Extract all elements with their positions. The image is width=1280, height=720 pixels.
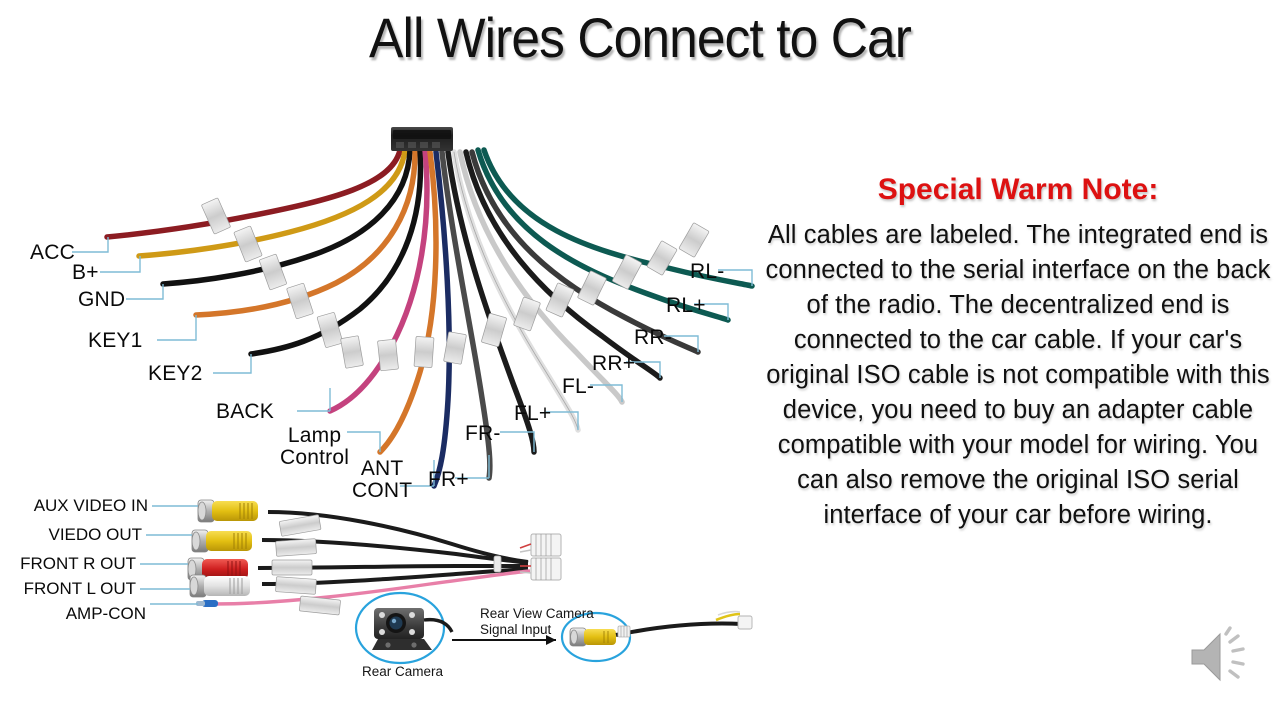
- rca-jack-front-l-out: [190, 575, 250, 597]
- speaker-audio-icon[interactable]: [1186, 626, 1260, 688]
- wire-label-key2: KEY2: [148, 362, 203, 385]
- page-title: All Wires Connect to Car: [51, 6, 1229, 70]
- wire-label-ant-cont: ANT CONT: [352, 458, 412, 502]
- rca-label-front-r-out: FRONT R OUT: [0, 554, 136, 573]
- wire-label-rl-plus: RL+: [666, 294, 706, 317]
- wire-label-rr-plus: RR+: [592, 352, 635, 375]
- rca-label-front-l-out: FRONT L OUT: [0, 579, 136, 598]
- slide-canvas: All Wires Connect to Car: [0, 0, 1280, 720]
- camera-device-label: Rear Camera: [362, 664, 443, 679]
- rca-label-amp-con: AMP-CON: [0, 604, 146, 623]
- wire-label-back: BACK: [216, 400, 274, 423]
- special-warm-note-panel: Special Warm Note: All cables are labele…: [756, 172, 1280, 533]
- wire-label-b-plus: B+: [72, 261, 99, 284]
- wire-label-fr-minus: FR-: [465, 422, 501, 445]
- wire-label-rr-minus: RR-: [634, 326, 672, 349]
- wire-label-fr-plus: FR+: [428, 468, 469, 491]
- main-wiring-connector-block: [391, 127, 453, 151]
- note-heading: Special Warm Note:: [756, 172, 1280, 208]
- rca-cable-group: [188, 500, 561, 607]
- wire-label-fl-minus: FL-: [562, 375, 594, 398]
- wire-label-rl-minus: RL-: [690, 260, 724, 283]
- rear-camera-illustration: [356, 593, 452, 663]
- wire-label-fl-plus: FL+: [514, 402, 551, 425]
- wire-label-acc: ACC: [30, 241, 75, 264]
- rca-jack-video-out: [192, 530, 252, 552]
- note-body-text: All cables are labeled. The integrated e…: [756, 218, 1280, 533]
- rca-jack-front-r-out: [188, 558, 248, 580]
- rca-jack-aux-video-in: [198, 500, 258, 522]
- rca-tag-group: [272, 515, 341, 615]
- wire-label-gnd: GND: [78, 288, 125, 311]
- wire-label-lamp-control: Lamp Control: [280, 425, 349, 469]
- rca-label-aux-video-in: AUX VIDEO IN: [0, 496, 148, 515]
- rca-label-video-out: VIEDO OUT: [0, 525, 142, 544]
- camera-signal-input-label: Rear View Camera Signal Input: [480, 606, 594, 638]
- wire-label-key1: KEY1: [88, 329, 143, 352]
